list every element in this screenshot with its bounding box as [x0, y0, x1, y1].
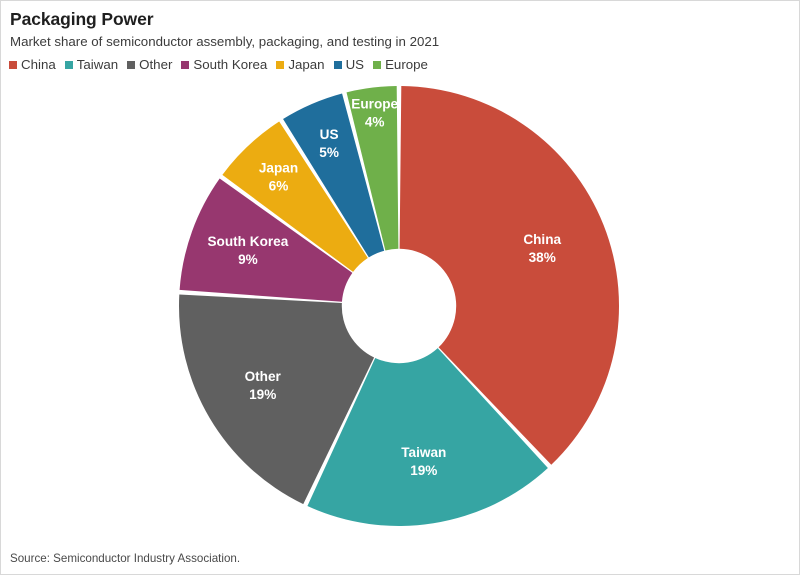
legend-item-label: US	[346, 58, 364, 72]
slice-label-value: 19%	[410, 463, 437, 478]
donut-slice[interactable]	[400, 86, 619, 465]
slice-label-value: 38%	[529, 250, 556, 265]
slice-label-value: 6%	[269, 178, 289, 193]
legend-swatch-icon	[127, 61, 135, 69]
legend-swatch-icon	[9, 61, 17, 69]
legend-swatch-icon	[334, 61, 342, 69]
donut-slice[interactable]	[179, 294, 374, 504]
donut-chart: China38%Taiwan19%Other19%South Korea9%Ja…	[1, 1, 800, 576]
legend-item[interactable]: Taiwan	[65, 58, 118, 72]
slice-label-name: China	[523, 232, 561, 247]
legend-item[interactable]: Other	[127, 58, 172, 72]
donut-slice[interactable]	[180, 179, 353, 302]
donut-slice[interactable]	[307, 348, 547, 526]
donut-slice-labels: China38%Taiwan19%Other19%South Korea9%Ja…	[207, 96, 561, 478]
legend-swatch-icon	[373, 61, 381, 69]
slice-label-name: US	[320, 127, 339, 142]
legend-item[interactable]: China	[9, 58, 56, 72]
legend-item-label: China	[21, 58, 56, 72]
legend-item[interactable]: Japan	[276, 58, 324, 72]
legend-item-label: Japan	[288, 58, 324, 72]
legend-item-label: Europe	[385, 58, 428, 72]
slice-label-value: 4%	[365, 114, 385, 129]
slice-label-name: Japan	[259, 160, 298, 175]
chart-subtitle: Market share of semiconductor assembly, …	[10, 34, 439, 49]
donut-chart-container: China38%Taiwan19%Other19%South Korea9%Ja…	[1, 1, 800, 576]
slice-label-name: South Korea	[207, 234, 288, 249]
slice-label-value: 19%	[249, 387, 276, 402]
legend-item-label: Other	[139, 58, 172, 72]
chart-frame: Packaging Power Market share of semicond…	[0, 0, 800, 575]
chart-legend: ChinaTaiwanOtherSouth KoreaJapanUSEurope	[9, 58, 437, 72]
slice-label-value: 5%	[319, 145, 339, 160]
page-title: Packaging Power	[10, 9, 153, 30]
donut-slice[interactable]	[222, 121, 367, 271]
slice-label-name: Other	[245, 369, 282, 384]
donut-slice[interactable]	[283, 94, 384, 258]
legend-item-label: South Korea	[193, 58, 267, 72]
slice-label-name: Taiwan	[401, 445, 446, 460]
legend-item[interactable]: US	[334, 58, 364, 72]
legend-item[interactable]: South Korea	[181, 58, 267, 72]
donut-slice[interactable]	[347, 86, 399, 250]
source-note: Source: Semiconductor Industry Associati…	[10, 552, 240, 565]
legend-item-label: Taiwan	[77, 58, 118, 72]
legend-item[interactable]: Europe	[373, 58, 428, 72]
slice-label-value: 9%	[238, 252, 258, 267]
legend-swatch-icon	[276, 61, 284, 69]
legend-swatch-icon	[181, 61, 189, 69]
legend-swatch-icon	[65, 61, 73, 69]
slice-label-name: Europe	[351, 96, 398, 111]
donut-slices	[179, 86, 619, 526]
